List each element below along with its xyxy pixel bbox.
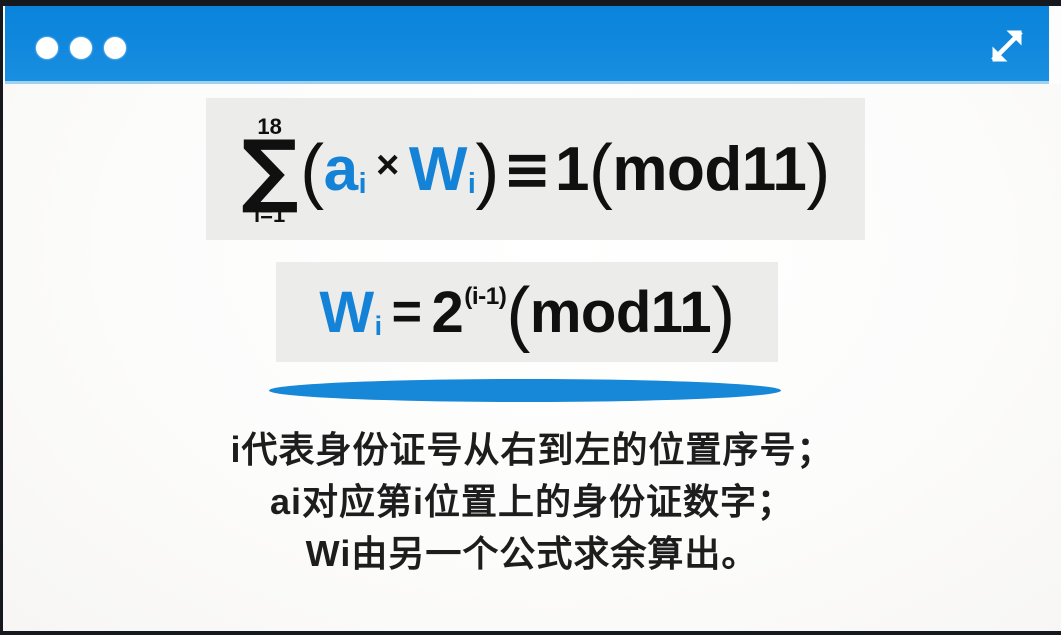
weight-term-w: Wi <box>319 279 381 346</box>
window-dot-close[interactable] <box>36 37 58 59</box>
term-w-subscript: i <box>468 168 475 200</box>
expand-button[interactable] <box>983 22 1031 70</box>
window-dot-minimize[interactable] <box>70 37 92 59</box>
summation-lower-limit-eq: = <box>260 202 273 227</box>
summation-lower-limit-value: 1 <box>273 202 285 227</box>
caption-line-3: Wi由另一个公式求余算出。 <box>3 528 1061 580</box>
window-title-bar <box>5 6 1049 81</box>
rhs-value: 1 <box>555 134 589 205</box>
blue-pill-divider <box>269 379 781 402</box>
weight-mod-value: 11 <box>651 279 711 346</box>
window-bottom-border <box>3 631 1061 635</box>
weight-mod-close-paren: ) <box>711 282 734 347</box>
mod-open-paren: ( <box>589 139 612 204</box>
term-a: ai <box>324 134 366 205</box>
summation-lower-limit: i=1 <box>254 204 285 226</box>
weight-mod-open-paren: ( <box>506 282 529 347</box>
window-control-dots <box>36 37 126 59</box>
term-a-subscript: i <box>359 168 366 200</box>
checksum-congruence-formula: 18 ∑ i=1 ( ai × Wi ) ≡ 1 ( mod 11 ) <box>206 98 865 240</box>
term-w-base: W <box>409 135 467 204</box>
sigma-icon: ∑ <box>241 139 298 201</box>
summation-operator: 18 ∑ i=1 <box>241 116 298 225</box>
multiplication-sign: × <box>376 143 399 188</box>
content-area: 18 ∑ i=1 ( ai × Wi ) ≡ 1 ( mod 11 ) Wi =… <box>3 84 1061 631</box>
caption-line-2: ai对应第i位置上的身份证数字； <box>3 476 1061 528</box>
term-a-base: a <box>324 135 358 204</box>
mod-value: 11 <box>742 134 807 205</box>
expand-diagonal-arrow-icon <box>984 23 1030 69</box>
open-paren: ( <box>300 139 323 204</box>
power-exponent: (i-1) <box>464 283 506 311</box>
mod-close-paren: ) <box>806 139 829 204</box>
caption-block: i代表身份证号从右到左的位置序号； ai对应第i位置上的身份证数字； Wi由另一… <box>3 424 1061 580</box>
power-base: 2 <box>431 279 463 346</box>
weight-term-w-subscript: i <box>375 311 382 341</box>
mod-label: mod <box>612 134 741 205</box>
weight-formula: Wi = 2 (i-1) ( mod 11 ) <box>276 262 778 362</box>
caption-line-1: i代表身份证号从右到左的位置序号； <box>3 424 1061 476</box>
term-w: Wi <box>409 134 475 205</box>
weight-term-w-base: W <box>319 280 373 345</box>
equals-sign: = <box>392 282 422 342</box>
close-paren: ) <box>475 139 498 204</box>
window-dot-maximize[interactable] <box>104 37 126 59</box>
app-window: 18 ∑ i=1 ( ai × Wi ) ≡ 1 ( mod 11 ) Wi =… <box>0 0 1061 635</box>
congruence-sign: ≡ <box>503 135 551 203</box>
weight-mod-label: mod <box>530 279 651 346</box>
